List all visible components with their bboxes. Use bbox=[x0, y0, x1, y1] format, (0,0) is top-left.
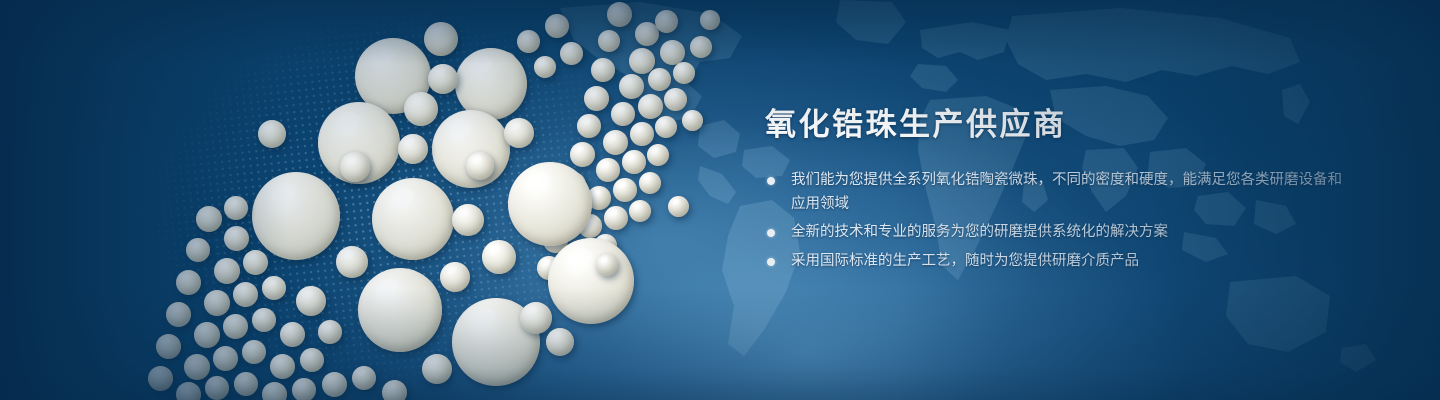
hero-banner: 氧化锆珠生产供应商 我们能为您提供全系列氧化锆陶瓷微珠，不同的密度和硬度，能满足… bbox=[0, 0, 1440, 400]
background-vignette bbox=[0, 0, 1440, 400]
